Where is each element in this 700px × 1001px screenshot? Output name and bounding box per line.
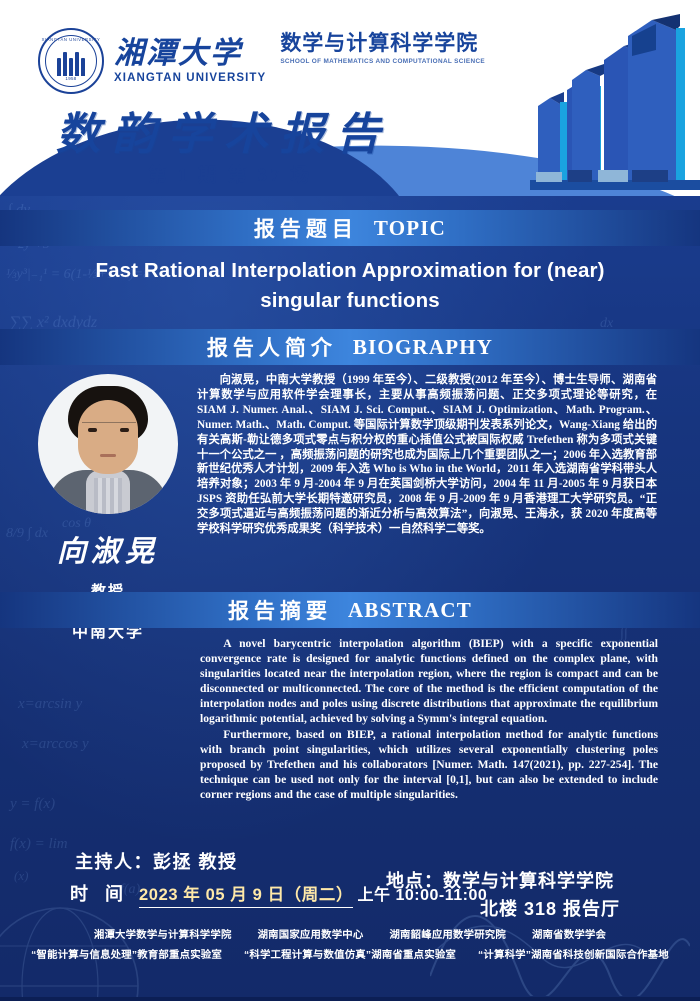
sponsor-item: 湖南国家应用数学中心 (258, 926, 364, 941)
abstract-paragraph-1: A novel barycentric interpolation algori… (200, 636, 658, 727)
venue-line-1: 地点：数学与计算科学学院 (386, 871, 614, 891)
poster-header: XIANGTAN UNIVERSITY 1958 湘潭大学 XIANGTAN U… (0, 0, 700, 200)
campus-buildings-graphic (520, 14, 700, 200)
sponsor-row-2: “智能计算与信息处理”教育部重点实验室 “科学工程计算与数值仿真”湖南省重点实验… (0, 946, 700, 961)
seal-arc-text: XIANGTAN UNIVERSITY (40, 37, 102, 42)
venue-line-2: 北楼 318 报告厅 (386, 896, 686, 924)
abstract-banner: 报告摘要 ABSTRACT (0, 592, 700, 628)
decor-formula: f(x) = lim (10, 836, 68, 853)
biography-banner-cn: 报告人简介 (207, 332, 337, 362)
decor-formula: x=arccos y (22, 736, 89, 753)
sponsor-item: “计算科学”湖南省科技创新国际合作基地 (478, 946, 669, 961)
university-name-block: 湘潭大学 XIANGTAN UNIVERSITY (114, 38, 266, 84)
decor-formula: x=arcsin y (18, 696, 82, 713)
abstract-banner-cn: 报告摘要 (228, 595, 332, 625)
sponsor-item: 湘潭大学数学与计算科学学院 (94, 926, 232, 941)
host-line: 主持人：彭拯 教授 (75, 848, 238, 874)
topic-banner: 报告题目 TOPIC (0, 210, 700, 246)
university-seal-icon: XIANGTAN UNIVERSITY 1958 (38, 28, 104, 94)
school-name-block: 数学与计算科学学院 SCHOOL OF MATHEMATICS AND COMP… (280, 32, 485, 65)
abstract-banner-en: ABSTRACT (348, 598, 472, 623)
topic-banner-en: TOPIC (374, 216, 446, 241)
decor-formula: (x) (14, 868, 28, 884)
bottom-accent-bar (0, 997, 700, 1001)
event-date: 2023 年 05 月 9 日（周二） (139, 886, 353, 908)
speaker-photo (38, 374, 178, 514)
sponsor-item: 湖南韶峰应用数学研究院 (389, 926, 506, 941)
venue: 地点：数学与计算科学学院 北楼 318 报告厅 (386, 868, 686, 924)
university-identity: XIANGTAN UNIVERSITY 1958 湘潭大学 XIANGTAN U… (38, 28, 485, 94)
biography-banner-en: BIOGRAPHY (353, 335, 493, 360)
university-name-en: XIANGTAN UNIVERSITY (114, 72, 266, 84)
seal-glyph (54, 46, 88, 76)
topic-title: Fast Rational Interpolation Approximatio… (60, 256, 640, 315)
seal-year: 1958 (40, 76, 102, 81)
abstract-paragraph-2: Furthermore, based on BIEP, a rational i… (200, 727, 658, 802)
sponsor-item: “智能计算与信息处理”教育部重点实验室 (31, 946, 222, 961)
school-name-cn: 数学与计算科学学院 (280, 32, 485, 55)
topic-banner-cn: 报告题目 (254, 213, 358, 243)
sponsor-item: 湖南省数学学会 (532, 926, 606, 941)
speaker-name: 向淑晃 (24, 528, 192, 570)
sponsor-item: “科学工程计算与数值仿真”湖南省重点实验室 (244, 946, 456, 961)
biography-banner: 报告人简介 BIOGRAPHY (0, 329, 700, 365)
abstract-text: A novel barycentric interpolation algori… (200, 636, 658, 802)
issue-number: 第 1 期 第 37 场 (148, 160, 312, 187)
sponsor-row-1: 湘潭大学数学与计算科学学院 湖南国家应用数学中心 湖南韶峰应用数学研究院 湖南省… (0, 926, 700, 941)
series-brush-title: 数韵学术报告 (56, 98, 392, 162)
school-name-en: SCHOOL OF MATHEMATICS AND COMPUTATIONAL … (280, 58, 485, 65)
biography-text: 向淑晃，中南大学教授（1999 年至今）、二级教授(2012 年至今）、博士生导… (197, 373, 657, 537)
university-name-cn: 湘潭大学 (114, 38, 266, 70)
time-label: 时 间 (70, 880, 129, 906)
sponsor-section: 湘潭大学数学与计算科学学院 湖南国家应用数学中心 湖南韶峰应用数学研究院 湖南省… (0, 926, 700, 966)
decor-formula: y = f(x) (10, 796, 55, 813)
seminar-poster: XIANGTAN UNIVERSITY 1958 湘潭大学 XIANGTAN U… (0, 0, 700, 1001)
